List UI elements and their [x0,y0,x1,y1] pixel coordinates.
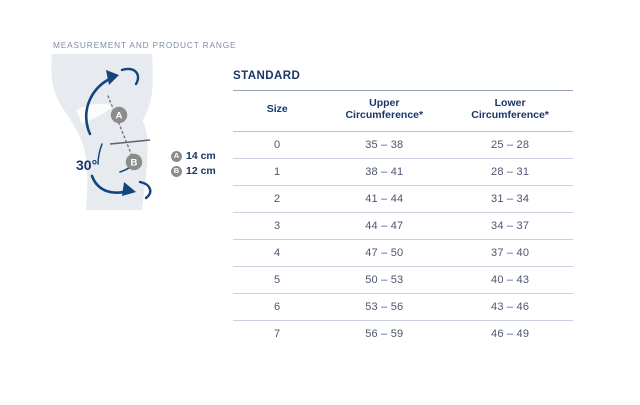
cell-upper: 35 – 38 [321,131,447,158]
size-chart-section: STANDARD Size Upper Circumference* Lower… [233,70,573,347]
cell-upper: 50 – 53 [321,266,447,293]
column-header-size: Size [233,91,321,132]
size-chart-table: Size Upper Circumference* Lower Circumfe… [233,90,573,347]
legend-item-a: A 14 cm [171,150,216,162]
cell-size: 3 [233,212,321,239]
cell-upper: 44 – 47 [321,212,447,239]
column-header-lower-line2: Circumference* [471,109,549,121]
table-header-row: Size Upper Circumference* Lower Circumfe… [233,91,573,132]
table-row: 138 – 4128 – 31 [233,158,573,185]
marker-b-icon: B [126,154,142,170]
cell-size: 4 [233,239,321,266]
table-title: STANDARD [233,70,573,90]
column-header-upper-line1: Upper [369,97,399,109]
table-body: 035 – 3825 – 28138 – 4128 – 31241 – 4431… [233,131,573,347]
column-header-lower-line1: Lower [495,97,526,109]
cell-size: 2 [233,185,321,212]
cell-lower: 37 – 40 [447,239,573,266]
svg-text:B: B [131,158,138,169]
table-row: 241 – 4431 – 34 [233,185,573,212]
table-row: 447 – 5037 – 40 [233,239,573,266]
cell-lower: 46 – 49 [447,320,573,347]
table-row: 344 – 4734 – 37 [233,212,573,239]
cell-size: 7 [233,320,321,347]
cell-size: 0 [233,131,321,158]
legend-item-b: B 12 cm [171,165,216,177]
cell-lower: 31 – 34 [447,185,573,212]
cell-lower: 43 – 46 [447,293,573,320]
column-header-size-label: Size [267,103,288,115]
angle-label: 30° [76,157,97,173]
legend-badge-a-icon: A [171,151,182,162]
cell-lower: 25 – 28 [447,131,573,158]
svg-text:A: A [116,111,123,122]
measurement-legend: A 14 cm B 12 cm [171,150,216,177]
table-row: 756 – 5946 – 49 [233,320,573,347]
table-row: 035 – 3825 – 28 [233,131,573,158]
cell-lower: 34 – 37 [447,212,573,239]
cell-upper: 56 – 59 [321,320,447,347]
cell-upper: 47 – 50 [321,239,447,266]
cell-lower: 40 – 43 [447,266,573,293]
table-row: 653 – 5643 – 46 [233,293,573,320]
column-header-lower-circumference: Lower Circumference* [447,91,573,132]
cell-upper: 53 – 56 [321,293,447,320]
legend-value-a: 14 cm [186,150,216,162]
table-row: 550 – 5340 – 43 [233,266,573,293]
cell-upper: 41 – 44 [321,185,447,212]
cell-size: 1 [233,158,321,185]
marker-a-icon: A [111,107,127,123]
cell-upper: 38 – 41 [321,158,447,185]
table-header: Size Upper Circumference* Lower Circumfe… [233,91,573,132]
knee-measurement-diagram: A B 30° [46,52,226,212]
cell-size: 6 [233,293,321,320]
knee-diagram-svg: A B 30° [46,52,226,212]
cell-size: 5 [233,266,321,293]
column-header-upper-circumference: Upper Circumference* [321,91,447,132]
cell-lower: 28 – 31 [447,158,573,185]
legend-badge-b-icon: B [171,166,182,177]
column-header-upper-line2: Circumference* [345,109,423,121]
page-caption: MEASUREMENT AND PRODUCT RANGE [53,40,236,50]
legend-value-b: 12 cm [186,165,216,177]
